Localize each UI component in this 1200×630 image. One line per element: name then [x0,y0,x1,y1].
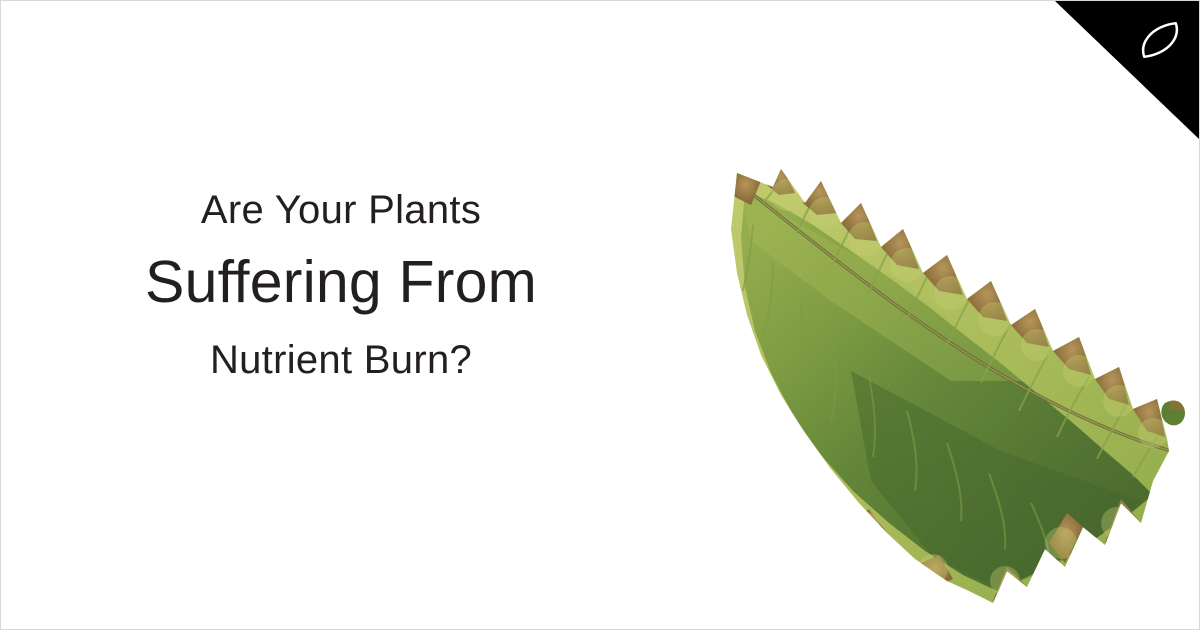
leaf-texture [701,151,1200,611]
corner-triangle [1055,1,1199,139]
headline-line-2: Suffering From [61,239,621,325]
leaf-icon [1137,17,1183,63]
headline: Are Your Plants Suffering From Nutrient … [61,181,621,389]
headline-line-1: Are Your Plants [61,181,621,239]
banner: Are Your Plants Suffering From Nutrient … [0,0,1200,630]
cannabis-leaf-image [701,151,1200,611]
headline-line-3: Nutrient Burn? [61,331,621,389]
leaf-illustration [701,151,1200,611]
logo-corner [1055,1,1199,139]
leaf-fragment [1161,401,1185,426]
